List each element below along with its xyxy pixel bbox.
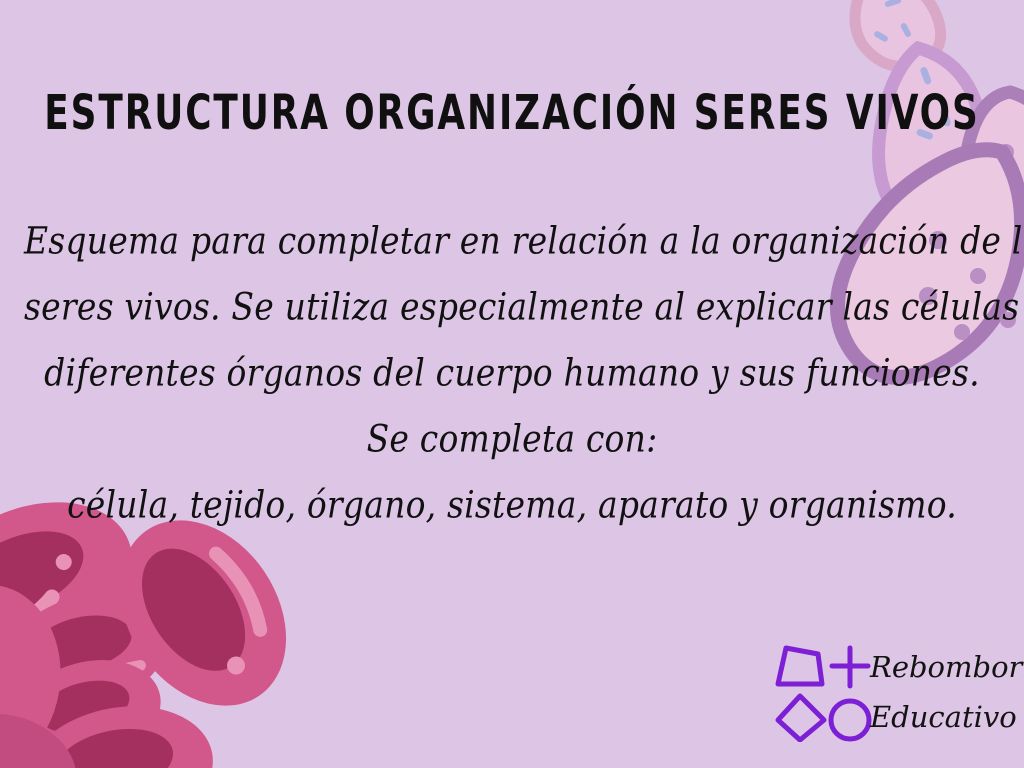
- body-line: Esquema para completar en relación a la …: [24, 204, 1000, 278]
- diamond-icon: [778, 696, 824, 740]
- logo-wordmark: Rebombori Educativo: [870, 642, 1020, 742]
- trapezoid-icon: [778, 648, 822, 684]
- plus-icon: [832, 648, 868, 686]
- body-line: célula, tejido, órgano, sistema, aparato…: [24, 468, 1000, 542]
- page-title: ESTRUCTURA ORGANIZACIÓN SERES VIVOS: [15, 84, 1008, 141]
- body-line: Se completa con:: [24, 402, 1000, 476]
- body-line: diferentes órganos del cuerpo humano y s…: [24, 336, 1000, 410]
- brand-logo: Rebombori Educativo: [770, 640, 1015, 742]
- logo-line-two: Educativo: [870, 692, 1020, 742]
- body-line: seres vivos. Se utiliza especialmente al…: [24, 270, 1000, 344]
- logo-line-one: Rebombori: [870, 642, 1020, 692]
- body-text-block: Esquema para completar en relación a la …: [24, 208, 1000, 538]
- logo-shape-marks: [770, 640, 872, 742]
- circle-icon: [831, 701, 869, 739]
- slide-canvas: ESTRUCTURA ORGANIZACIÓN SERES VIVOS Esqu…: [0, 0, 1024, 768]
